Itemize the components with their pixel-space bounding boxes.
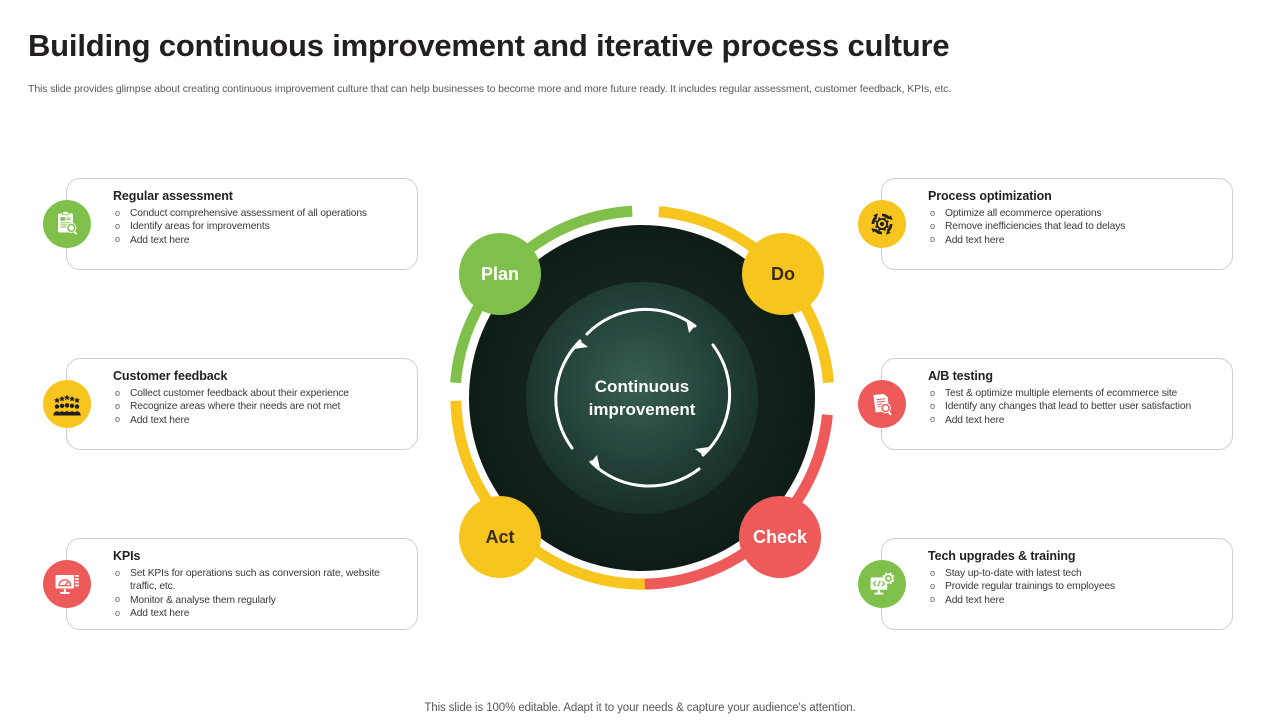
card-bullets: Collect customer feedback about their ex… <box>113 387 409 427</box>
code-monitor-gear-icon <box>858 560 906 608</box>
page-subtitle: This slide provides glimpse about creati… <box>28 83 951 95</box>
list-item: Remove inefficiencies that lead to delay… <box>928 220 1224 233</box>
list-item: Add text here <box>928 234 1224 247</box>
list-item: Identify areas for improvements <box>113 220 409 233</box>
list-item: Set KPIs for operations such as conversi… <box>113 567 409 594</box>
footer-note: This slide is 100% editable. Adapt it to… <box>0 702 1280 714</box>
list-item: Add text here <box>113 414 409 427</box>
cycle-node-check[interactable]: Check <box>739 496 821 578</box>
list-item: Add text here <box>113 234 409 247</box>
card-content: KPIs Set KPIs for operations such as con… <box>113 549 409 621</box>
card-process-optimization[interactable]: Process optimization Optimize all ecomme… <box>881 178 1233 270</box>
cycle-core <box>526 282 758 514</box>
list-item: Identify any changes that lead to better… <box>928 400 1224 413</box>
list-item: Test & optimize multiple elements of eco… <box>928 387 1224 400</box>
card-title: Process optimization <box>928 189 1224 203</box>
cycle-node-label: Plan <box>481 264 519 285</box>
gear-cycle-icon <box>858 200 906 248</box>
card-ab-testing[interactable]: A/B testing Test & optimize multiple ele… <box>881 358 1233 450</box>
card-title: KPIs <box>113 549 409 563</box>
card-customer-feedback[interactable]: Customer feedback Collect customer feedb… <box>66 358 418 450</box>
dashboard-monitor-icon <box>43 560 91 608</box>
card-title: A/B testing <box>928 369 1224 383</box>
card-bullets: Test & optimize multiple elements of eco… <box>928 387 1224 427</box>
list-item: Conduct comprehensive assessment of all … <box>113 207 409 220</box>
cycle-node-act[interactable]: Act <box>459 496 541 578</box>
cycle-node-do[interactable]: Do <box>742 233 824 315</box>
card-content: A/B testing Test & optimize multiple ele… <box>928 369 1224 427</box>
clipboard-search-icon <box>43 200 91 248</box>
card-title: Customer feedback <box>113 369 409 383</box>
list-item: Optimize all ecommerce operations <box>928 207 1224 220</box>
cycle-node-label: Act <box>485 527 514 548</box>
card-title: Regular assessment <box>113 189 409 203</box>
card-content: Process optimization Optimize all ecomme… <box>928 189 1224 247</box>
customer-rating-icon <box>43 380 91 428</box>
list-item: Add text here <box>928 414 1224 427</box>
list-item: Monitor & analyse them regularly <box>113 594 409 607</box>
list-item: Add text here <box>928 594 1224 607</box>
card-content: Customer feedback Collect customer feedb… <box>113 369 409 427</box>
document-search-icon <box>858 380 906 428</box>
card-content: Regular assessment Conduct comprehensive… <box>113 189 409 247</box>
cycle-node-label: Check <box>753 527 807 548</box>
card-title: Tech upgrades & training <box>928 549 1224 563</box>
title-divider <box>0 72 1280 73</box>
list-item: Collect customer feedback about their ex… <box>113 387 409 400</box>
list-item: Provide regular trainings to employees <box>928 580 1224 593</box>
card-tech-upgrades-training[interactable]: Tech upgrades & training Stay up-to-date… <box>881 538 1233 630</box>
cycle-node-plan[interactable]: Plan <box>459 233 541 315</box>
cycle-node-label: Do <box>771 264 795 285</box>
list-item: Add text here <box>113 607 409 620</box>
card-bullets: Stay up-to-date with latest tech Provide… <box>928 567 1224 607</box>
list-item: Recognize areas where their needs are no… <box>113 400 409 413</box>
page-title: Building continuous improvement and iter… <box>28 28 949 64</box>
card-bullets: Set KPIs for operations such as conversi… <box>113 567 409 621</box>
card-content: Tech upgrades & training Stay up-to-date… <box>928 549 1224 607</box>
card-bullets: Conduct comprehensive assessment of all … <box>113 207 409 247</box>
card-regular-assessment[interactable]: Regular assessment Conduct comprehensive… <box>66 178 418 270</box>
pdca-cycle-diagram: Continuous improvement Plan Do Check Act <box>437 193 847 603</box>
card-kpis[interactable]: KPIs Set KPIs for operations such as con… <box>66 538 418 630</box>
card-bullets: Optimize all ecommerce operations Remove… <box>928 207 1224 247</box>
list-item: Stay up-to-date with latest tech <box>928 567 1224 580</box>
